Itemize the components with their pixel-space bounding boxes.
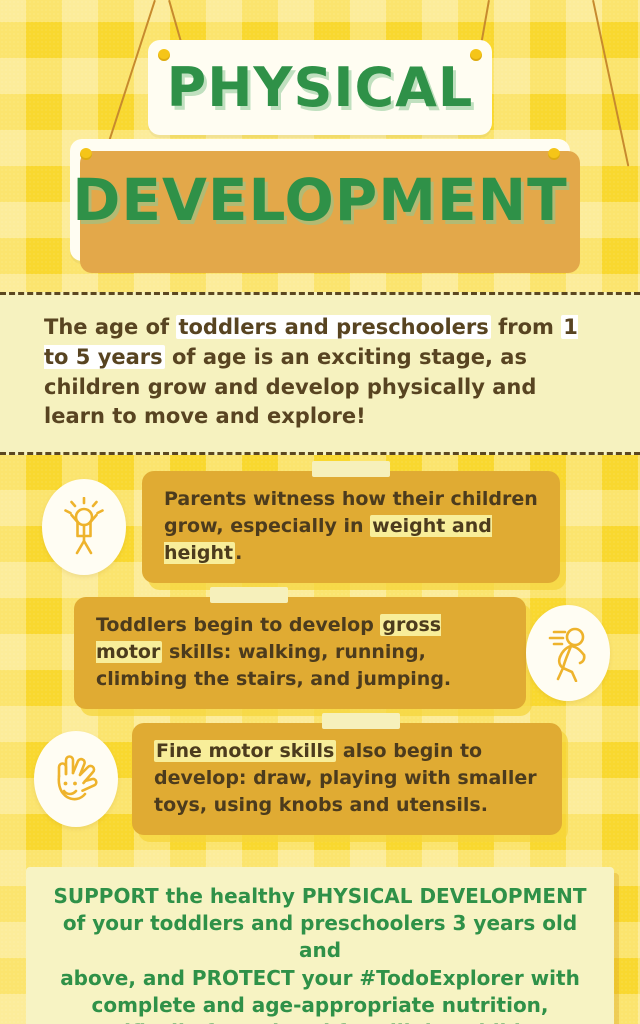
card2-text-part1: Toddlers begin to develop <box>96 614 380 636</box>
infographic-poster: PHYSICAL DEVELOPMENT The age of toddlers… <box>0 0 640 1024</box>
milestone-text: Toddlers begin to develop gross motor sk… <box>96 612 504 693</box>
card-tab-accent <box>312 461 390 477</box>
intro-highlight-toddlers: toddlers and preschoolers <box>176 315 490 339</box>
milestone-card-list: Parents witness how their children grow,… <box>0 455 640 855</box>
pin-icon <box>548 148 560 160</box>
intro-text: The age of toddlers and preschoolers fro… <box>44 313 596 432</box>
callout-line-3: above, and PROTECT your #TodoExplorer wi… <box>44 965 596 992</box>
pin-icon <box>80 148 92 160</box>
intro-band: The age of toddlers and preschoolers fro… <box>0 292 640 455</box>
smiley-hand-icon <box>34 731 118 827</box>
poster-header: PHYSICAL DEVELOPMENT <box>0 0 640 292</box>
callout-line-1: SUPPORT the healthy PHYSICAL DEVELOPMENT <box>44 883 596 910</box>
list-item: Fine motor skills also begin to develop:… <box>0 723 640 835</box>
milestone-card: Fine motor skills also begin to develop:… <box>132 723 562 835</box>
card3-highlight: Fine motor skills <box>154 740 336 762</box>
support-callout: SUPPORT the healthy PHYSICAL DEVELOPMENT… <box>26 867 614 1024</box>
intro-text-part1: The age of <box>44 315 176 339</box>
list-item: Toddlers begin to develop gross motor sk… <box>0 597 640 709</box>
pin-icon <box>470 49 482 61</box>
card-tab-accent <box>210 587 288 603</box>
milestone-text: Fine motor skills also begin to develop:… <box>154 738 540 819</box>
intro-text-part2: from <box>491 315 561 339</box>
card1-text-part2: . <box>235 542 242 564</box>
callout-line-2: of your toddlers and preschoolers 3 year… <box>44 910 596 964</box>
callout-line-5: specifically formulated for Filipino chi… <box>44 1019 596 1024</box>
callout-line-4: complete and age-appropriate nutrition, <box>44 992 596 1019</box>
card-tab-accent <box>322 713 400 729</box>
title-sign-bottom: DEVELOPMENT <box>70 139 570 261</box>
milestone-text: Parents witness how their children grow,… <box>164 486 538 567</box>
child-arms-raised-icon <box>42 479 126 575</box>
list-item: Parents witness how their children grow,… <box>0 471 640 583</box>
walking-child-icon <box>526 605 610 701</box>
page-title-line1: PHYSICAL <box>167 61 474 115</box>
milestone-card: Toddlers begin to develop gross motor sk… <box>74 597 526 709</box>
pin-icon <box>158 49 170 61</box>
hanging-string <box>592 0 629 166</box>
page-title-line2: DEVELOPMENT <box>72 171 567 229</box>
milestone-card: Parents witness how their children grow,… <box>142 471 560 583</box>
title-sign-top: PHYSICAL <box>148 40 492 135</box>
